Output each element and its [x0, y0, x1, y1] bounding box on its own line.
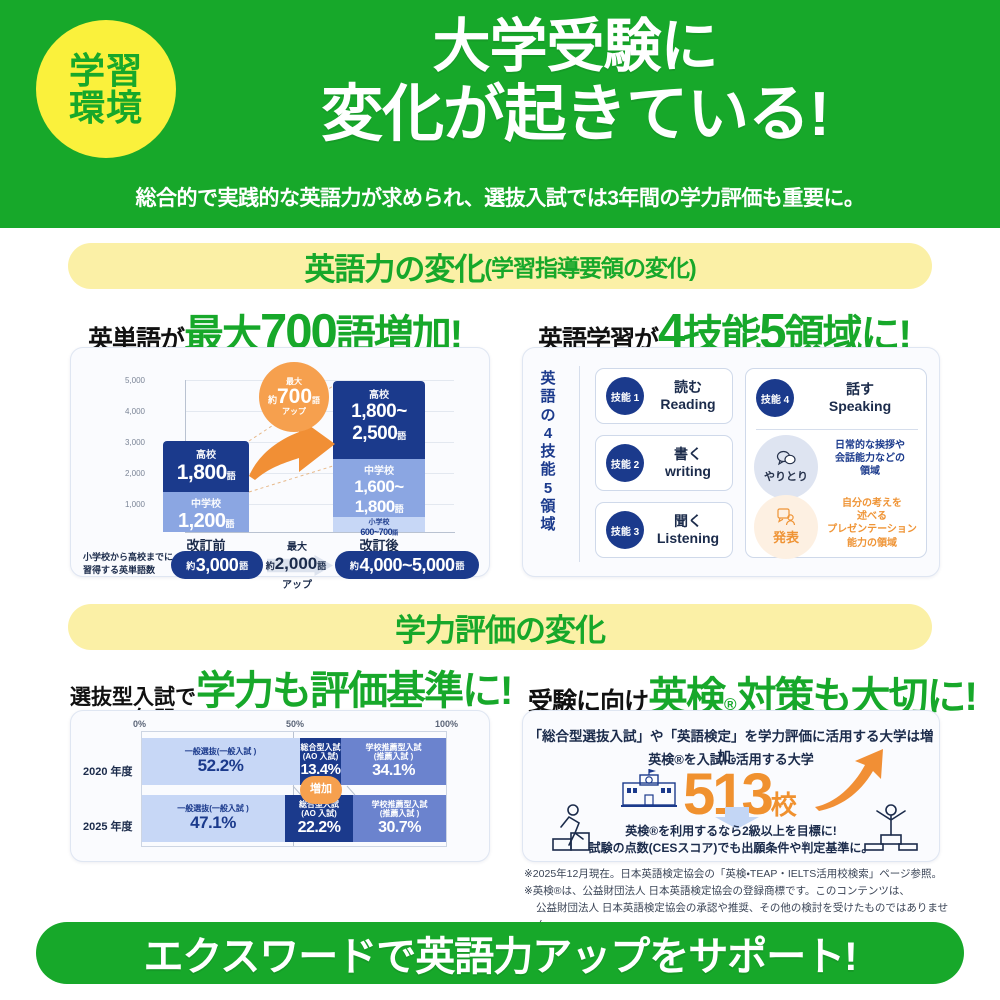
- vocab-total-after-pill: 約4,000~5,000語: [335, 551, 479, 579]
- vocab-delta-unit: 語: [317, 561, 326, 571]
- exam-share-chart-card: 0% 50% 100% 2020 年度 2025 年度 一般選抜(一般入試 ) …: [70, 710, 490, 862]
- exam-heading-hi: 学力: [196, 658, 272, 716]
- vocab-total-label-line1: 小学校から高校までに: [83, 551, 173, 564]
- vocab-bar-before-hs-unit: 語: [227, 471, 236, 481]
- skill-badge-4: 技能 4: [756, 379, 794, 417]
- interaction-blob: やりとり: [754, 435, 818, 499]
- vocab-bar-after-elementary: 小学校 600~700語: [333, 517, 425, 532]
- vocab-total-label-line2: 習得する英単語数: [83, 564, 173, 577]
- vocab-total-after-value: 4,000~5,000: [359, 555, 454, 576]
- presentation-caption: 発表: [773, 527, 799, 546]
- vocab-callout-badge: 最大 約700語 アップ: [259, 362, 329, 432]
- skill-jp-4: 話す: [794, 381, 926, 398]
- vocab-bar-after-highschool: 高校 1,800~ 2,500語: [333, 381, 425, 459]
- vocab-bar-after-el-label: 小学校: [333, 517, 425, 527]
- skill-group-divider: [756, 429, 918, 430]
- vocab-bar-after-hs-unit: 語: [397, 431, 406, 441]
- eiken-rising-arrow-icon: [811, 747, 889, 811]
- vocab-callout-num: 700: [277, 385, 312, 408]
- exam-row-label-2020: 2020 年度: [83, 763, 133, 779]
- section1-band-main: 英語力の変化: [304, 244, 484, 289]
- vocab-total-after-unit: 語: [456, 559, 465, 572]
- vocab-total-before-unit: 語: [239, 559, 248, 572]
- skill-en-4: Speaking: [794, 398, 926, 415]
- vocab-ytick-4000: 4,000: [111, 407, 145, 416]
- infographic-page: 学習 環境 大学受験に 変化が起きている! 総合的で実践的な英語力が求められ、選…: [0, 0, 1000, 1000]
- skills-card: 英語の4技能5領域 技能 1 読む Reading 技能 2 書く writin…: [522, 347, 940, 577]
- skill-en-1: Reading: [644, 396, 732, 413]
- skill-text-2: 書く writing: [644, 446, 732, 480]
- exam-chart-frame: [141, 731, 447, 847]
- section1-band: 英語力の変化 (学習指導要領の変化): [68, 243, 932, 289]
- vocab-ytick-5000: 5,000: [111, 376, 145, 385]
- skills-side-label: 英語の4技能5領域: [537, 370, 559, 535]
- page-subtitle: 総合的で実践的な英語力が求められ、選抜入試では3年間の学力評価も重要に。: [60, 182, 940, 212]
- vocab-callout-unit: 語: [312, 396, 320, 405]
- header-badge-line2: 環境: [69, 89, 143, 126]
- skill-badge-3: 技能 3: [606, 511, 644, 549]
- interaction-caption: やりとり: [764, 468, 808, 484]
- exam-heading-pre-line1: 選抜型入試で: [70, 686, 196, 709]
- skill-item-speaking[interactable]: 技能 4 話す Speaking: [746, 369, 926, 427]
- presentation-desc-line1: 自分の考えを: [820, 497, 924, 510]
- vocab-callout-approx: 約: [268, 395, 277, 405]
- vocab-total-row-label: 小学校から高校までに 習得する英単語数: [83, 551, 173, 577]
- vocab-bar-before-jh-label: 中学校: [163, 495, 249, 510]
- presentation-desc-line3: プレゼンテーション: [820, 523, 924, 536]
- interaction-desc-line3: 領域: [820, 465, 920, 478]
- school-building-icon: [621, 767, 677, 807]
- eiken-note-line1: 英検®を利用するなら2級以上を目標に!: [523, 823, 939, 840]
- eiken-note-line2: 試験の点数(CESスコア)でも出願条件や判定基準に。: [523, 840, 939, 857]
- vocabulary-chart-card: 5,000 4,000 3,000 2,000 1,000 高校 1,800語 …: [70, 347, 490, 577]
- vocab-delta-value: 2,000: [275, 554, 318, 573]
- eiken-note: 英検®を利用するなら2級以上を目標に! 試験の点数(CESスコア)でも出願条件や…: [523, 823, 939, 858]
- skill-text-4: 話す Speaking: [794, 381, 926, 415]
- skill-en-3: Listening: [644, 530, 732, 547]
- skill-group-speaking[interactable]: 技能 4 話す Speaking やりとり 日常的な挨拶や 会話能力などの: [745, 368, 927, 558]
- presentation-description: 自分の考えを 述べる プレゼンテーション 能力の領域: [820, 497, 924, 550]
- skill-badge-2: 技能 2: [606, 444, 644, 482]
- skill-item-reading[interactable]: 技能 1 読む Reading: [595, 368, 733, 424]
- footer-cta-banner[interactable]: エクスワードで英語力アップをサポート!: [36, 922, 964, 984]
- exam-xtick-0: 0%: [133, 719, 146, 729]
- vocab-total-after-approx: 約: [350, 559, 359, 572]
- skill-jp-1: 読む: [644, 379, 732, 396]
- vocab-ytick-2000: 2,000: [111, 469, 145, 478]
- presentation-blob: 発表: [754, 495, 818, 559]
- vocab-bar-after-jh-value2: 1,800: [355, 497, 395, 516]
- vocab-delta-top: 最大: [265, 538, 329, 553]
- vocab-bar-after-jh-label: 中学校: [333, 462, 425, 477]
- vocab-callout-line3: アップ: [282, 408, 306, 416]
- vocab-bar-before-highschool: 高校 1,800語: [163, 441, 249, 492]
- vocab-bar-after-jh-unit: 語: [395, 504, 404, 514]
- exam-heading-mid: も: [272, 658, 310, 716]
- section1-band-paren: (学習指導要領の変化): [484, 249, 695, 283]
- vocab-bar-after-hs-value1: 1,800~: [333, 401, 425, 423]
- skill-text-3: 聞く Listening: [644, 513, 732, 547]
- header-badge-line1: 学習: [69, 52, 143, 89]
- page-title-line1: 大学受験に: [180, 14, 970, 80]
- page-title-line2: 変化が起きている!: [180, 80, 970, 151]
- eiken-count-unit: 校: [771, 790, 796, 820]
- footer-cta-text: エクスワードで英語力アップをサポート!: [143, 924, 856, 982]
- skill-badge-1: 技能 1: [606, 377, 644, 415]
- skill-text-1: 読む Reading: [644, 379, 732, 413]
- speech-bubbles-icon: [776, 450, 796, 467]
- page-title: 大学受験に 変化が起きている!: [180, 14, 970, 151]
- skill-item-listening[interactable]: 技能 3 聞く Listening: [595, 502, 733, 558]
- vocab-bar-before-hs-label: 高校: [163, 446, 249, 461]
- vocab-bar-before-jh-unit: 語: [226, 519, 235, 529]
- presentation-icon: [776, 508, 796, 526]
- interaction-desc-line2: 会話能力などの: [820, 452, 920, 465]
- vocab-ytick-1000: 1,000: [111, 500, 145, 509]
- vocab-ytick-3000: 3,000: [111, 438, 145, 447]
- exam-xtick-50: 50%: [286, 719, 304, 729]
- exam-heading-post: 評価基準に!: [310, 658, 511, 716]
- interaction-description: 日常的な挨拶や 会話能力などの 領域: [820, 439, 920, 479]
- header-badge: 学習 環境: [36, 20, 176, 158]
- section2-band: 学力評価の変化: [68, 604, 932, 650]
- vocab-bar-after-hs-value2: 2,500: [352, 423, 397, 444]
- presentation-desc-line2: 述べる: [820, 510, 924, 523]
- vocab-bar-before-jh-value: 1,200: [178, 510, 226, 532]
- section2-band-main: 学力評価の変化: [395, 605, 605, 650]
- footnote-line2: ※英検®は、公益財団法人 日本英語検定協会の登録商標です。このコンテンツは、: [524, 883, 954, 900]
- exam-row-label-2025: 2025 年度: [83, 818, 133, 834]
- vocab-bar-before-hs-value: 1,800: [177, 461, 227, 484]
- vocab-total-before-value: 3,000: [196, 555, 239, 576]
- vocab-bar-before-juniorhigh: 中学校 1,200語: [163, 492, 249, 532]
- interaction-desc-line1: 日常的な挨拶や: [820, 439, 920, 452]
- footnote-line1: ※2025年12月現在。日本英語検定協会の「英検・TEAP・IELTS活用校検索…: [524, 866, 954, 883]
- header-banner: 学習 環境 大学受験に 変化が起きている! 総合的で実践的な英語力が求められ、選…: [0, 0, 1000, 228]
- vocab-delta-bottom: アップ: [265, 576, 329, 591]
- vocab-delta-approx: 約: [266, 561, 275, 571]
- vocab-delta-value-wrap: 約2,000語: [263, 554, 329, 574]
- eiken-card: 「総合型選抜入試」や「英語検定」を学力評価に活用する大学は増加。 英検®を入試に…: [522, 710, 940, 862]
- skill-jp-2: 書く: [644, 446, 732, 463]
- vocab-bar-after-hs-label: 高校: [333, 386, 425, 401]
- exam-xtick-100: 100%: [435, 719, 458, 729]
- skill-jp-3: 聞く: [644, 513, 732, 530]
- presentation-desc-line4: 能力の領域: [820, 537, 924, 550]
- skills-divider: [579, 366, 580, 562]
- vocab-total-before-pill: 約3,000語: [171, 551, 263, 579]
- skill-item-writing[interactable]: 技能 2 書く writing: [595, 435, 733, 491]
- vocab-bar-after-jh-value1: 1,600~: [333, 477, 425, 497]
- vocab-bar-after-juniorhigh: 中学校 1,600~ 1,800語: [333, 459, 425, 517]
- skill-en-2: writing: [644, 463, 732, 480]
- vocab-total-before-approx: 約: [186, 559, 195, 572]
